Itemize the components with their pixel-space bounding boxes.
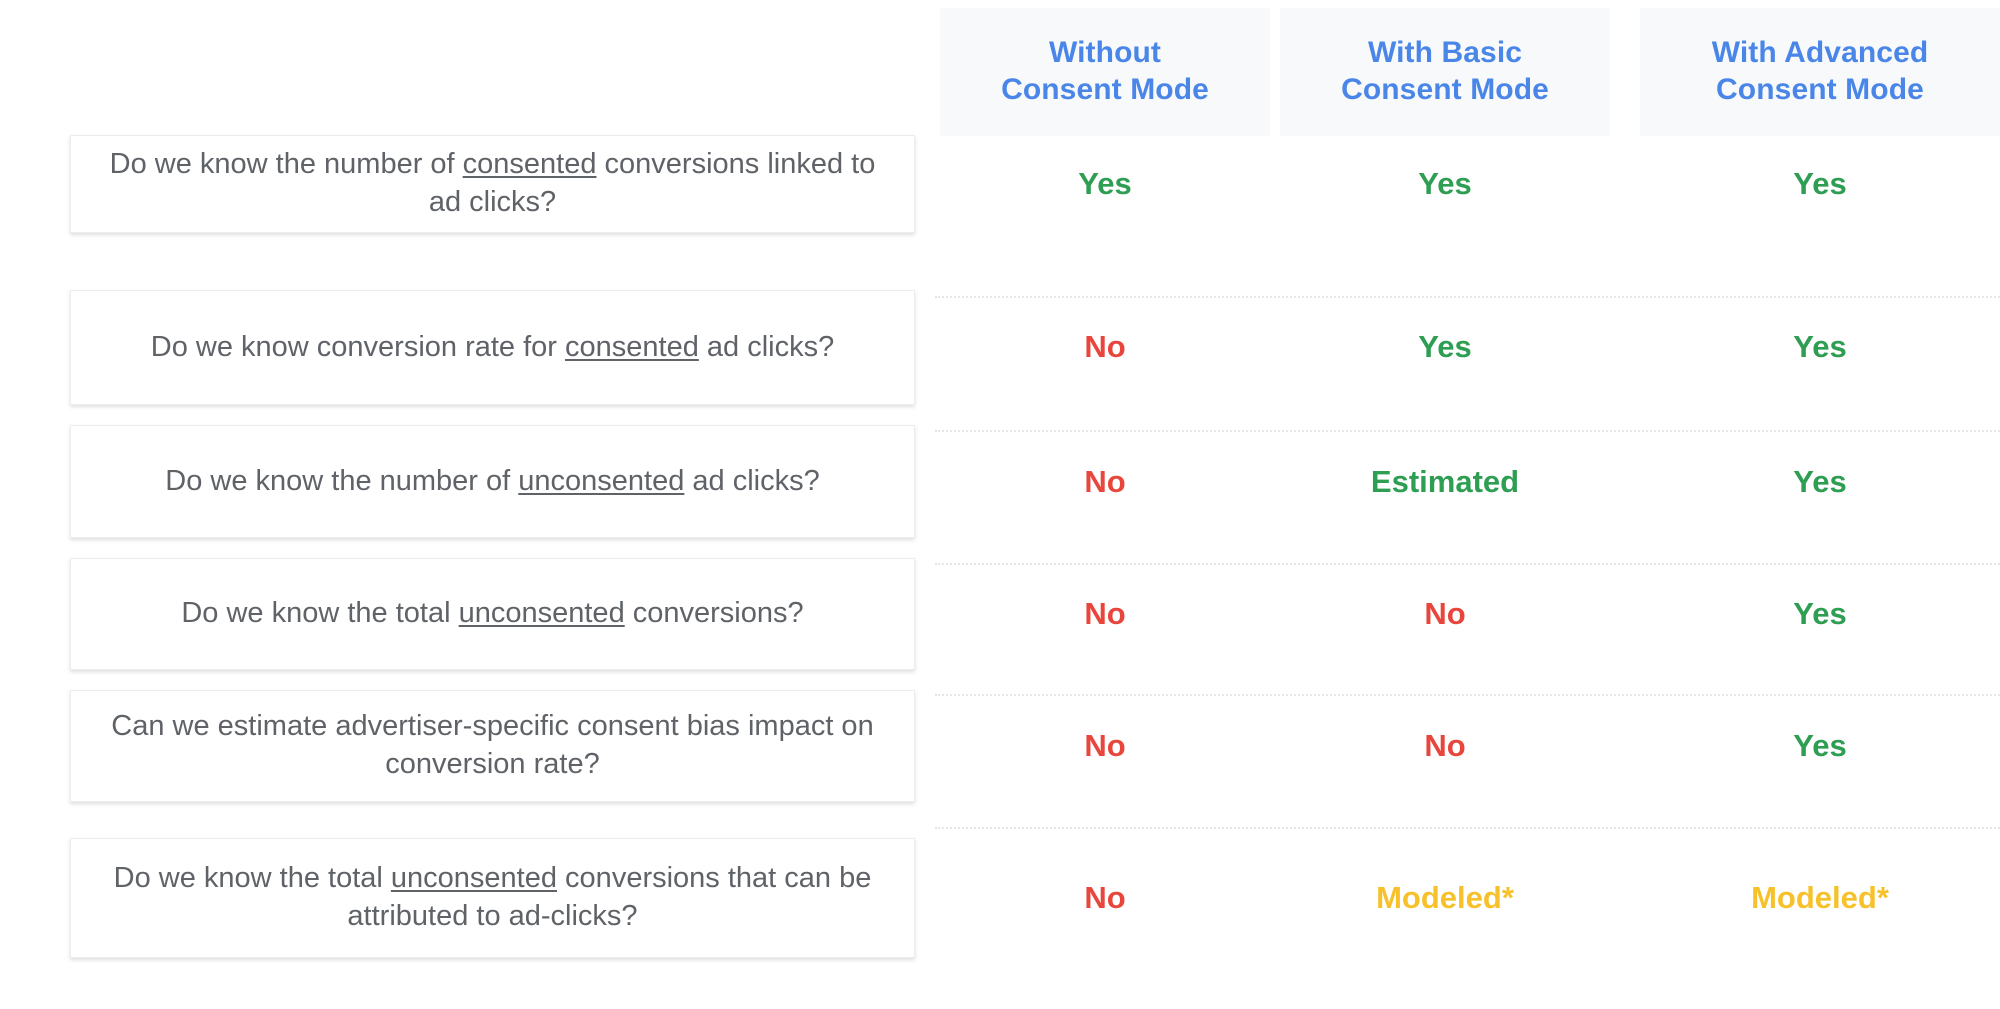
question-emphasis: unconsented <box>518 465 684 497</box>
question-text: Do we know the number of unconsented ad … <box>165 463 820 501</box>
question-emphasis: unconsented <box>459 597 625 629</box>
question-text: Do we know conversion rate for consented… <box>151 329 834 367</box>
value-cell-without: No <box>940 590 1270 638</box>
value-cell-without: No <box>940 874 1270 922</box>
value-cell-basic: Modeled* <box>1280 874 1610 922</box>
value-cell-basic: Estimated <box>1280 458 1610 506</box>
question-card: Do we know the total unconsented convers… <box>70 838 915 958</box>
column-header-basic: With Basic Consent Mode <box>1280 8 1610 136</box>
comparison-table: Without Consent ModeWith Basic Consent M… <box>0 0 2000 1009</box>
column-header-label: With Advanced Consent Mode <box>1712 35 1929 108</box>
question-card: Do we know the total unconsented convers… <box>70 558 915 670</box>
value-cell-basic: No <box>1280 590 1610 638</box>
question-card: Do we know the number of consented conve… <box>70 135 915 233</box>
value-cell-without: No <box>940 323 1270 371</box>
table-header-row: Without Consent ModeWith Basic Consent M… <box>0 8 2000 136</box>
value-cell-without: Yes <box>940 160 1270 208</box>
row-separator <box>935 563 2000 565</box>
question-text: Do we know the number of consented conve… <box>97 146 888 221</box>
row-separator <box>935 296 2000 298</box>
value-cell-basic: Yes <box>1280 160 1610 208</box>
value-cell-basic: No <box>1280 722 1610 770</box>
value-cell-advanced: Yes <box>1640 323 2000 371</box>
value-cell-advanced: Yes <box>1640 590 2000 638</box>
question-card: Do we know conversion rate for consented… <box>70 290 915 405</box>
value-cell-basic: Yes <box>1280 323 1610 371</box>
question-emphasis: consented <box>565 331 699 363</box>
value-cell-without: No <box>940 458 1270 506</box>
row-separator <box>935 430 2000 432</box>
value-cell-advanced: Yes <box>1640 722 2000 770</box>
question-emphasis: unconsented <box>391 862 557 894</box>
question-card: Can we estimate advertiser-specific cons… <box>70 690 915 802</box>
question-text: Can we estimate advertiser-specific cons… <box>97 708 888 783</box>
column-header-without: Without Consent Mode <box>940 8 1270 136</box>
question-text: Do we know the total unconsented convers… <box>181 595 803 633</box>
column-header-label: Without Consent Mode <box>1001 35 1209 108</box>
value-cell-advanced: Yes <box>1640 160 2000 208</box>
row-separator <box>935 694 2000 696</box>
value-cell-without: No <box>940 722 1270 770</box>
column-header-advanced: With Advanced Consent Mode <box>1640 8 2000 136</box>
question-card: Do we know the number of unconsented ad … <box>70 425 915 538</box>
row-separator <box>935 827 2000 829</box>
question-text: Do we know the total unconsented convers… <box>97 860 888 935</box>
question-emphasis: consented <box>463 148 597 180</box>
value-cell-advanced: Yes <box>1640 458 2000 506</box>
value-cell-advanced: Modeled* <box>1640 874 2000 922</box>
column-header-label: With Basic Consent Mode <box>1341 35 1549 108</box>
